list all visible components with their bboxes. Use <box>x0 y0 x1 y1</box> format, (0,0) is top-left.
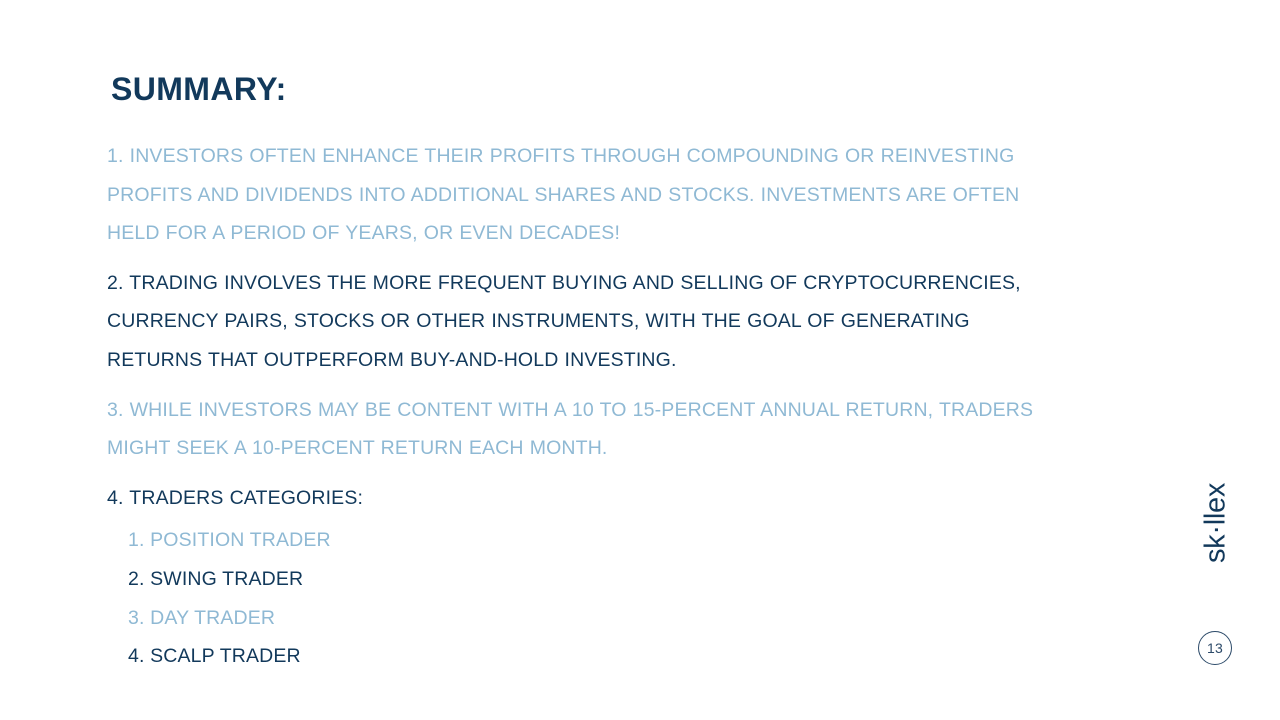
page-title: SUMMARY: <box>111 72 287 107</box>
summary-content: 1. INVESTORS OFTEN ENHANCE THEIR PROFITS… <box>107 137 1082 676</box>
summary-item-4: 4. TRADERS CATEGORIES: <box>107 479 1082 518</box>
skillex-logo: sk·llex <box>1196 455 1236 590</box>
summary-item-3: 3. WHILE INVESTORS MAY BE CONTENT WITH A… <box>107 391 1082 468</box>
summary-item-2: 2. TRADING INVOLVES THE MORE FREQUENT BU… <box>107 264 1057 380</box>
list-item-scalp-trader: 4. SCALP TRADER <box>128 637 1082 676</box>
logo-wordmark: sk·llex <box>1202 482 1231 562</box>
list-item-position-trader: 1. POSITION TRADER <box>128 521 1082 560</box>
page-number-value: 13 <box>1207 641 1223 655</box>
slide-canvas: SUMMARY: 1. INVESTORS OFTEN ENHANCE THEI… <box>0 0 1280 720</box>
list-item-swing-trader: 2. SWING TRADER <box>128 560 1082 599</box>
traders-categories-list: 1. POSITION TRADER 2. SWING TRADER 3. DA… <box>107 521 1082 675</box>
page-number-badge: 13 <box>1198 631 1232 665</box>
list-item-day-trader: 3. DAY TRADER <box>128 599 1082 638</box>
summary-item-1: 1. INVESTORS OFTEN ENHANCE THEIR PROFITS… <box>107 137 1067 253</box>
